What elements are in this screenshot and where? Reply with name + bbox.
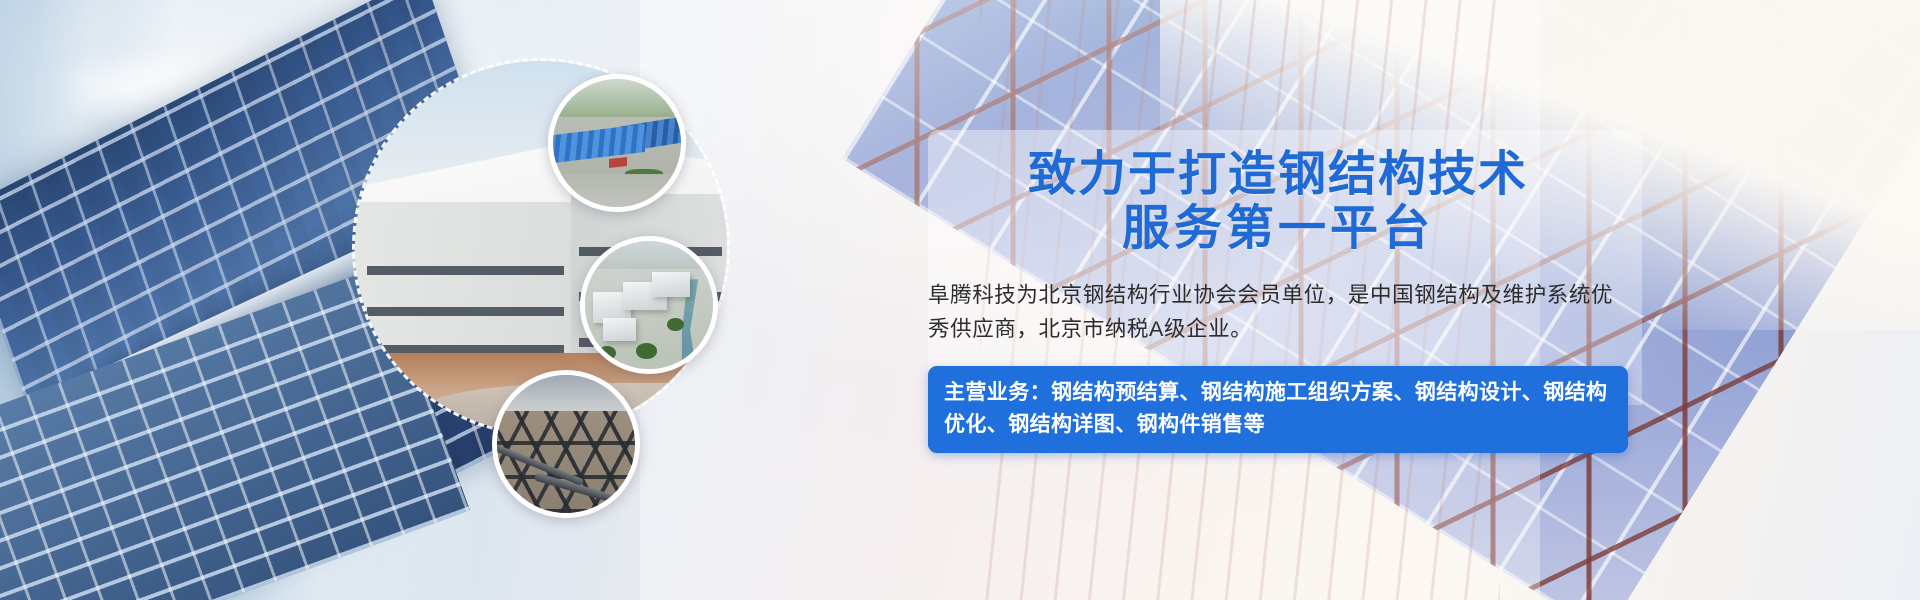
photo-collage [352,58,782,488]
circle-photo-factory-aerial [548,74,686,212]
banner-description: 阜腾科技为北京钢结构行业协会会员单位，是中国钢结构及维护系统优秀供应商，北京市纳… [928,278,1628,348]
circle-photo-office-campus-aerial [580,236,718,374]
office-block [652,272,690,298]
page-title: 致力于打造钢结构技术 服务第一平台 [928,148,1628,256]
tree [598,346,616,360]
circle-photo-steel-truss [492,370,640,518]
headline-line-2: 服务第一平台 [928,202,1628,256]
photo-sky [553,79,681,123]
hero-banner: 致力于打造钢结构技术 服务第一平台 阜腾科技为北京钢结构行业协会会员单位，是中国… [0,0,1920,600]
headline-line-1: 致力于打造钢结构技术 [1028,146,1528,202]
office-block [603,318,636,341]
window-row [367,307,564,316]
parking-lot [553,174,681,207]
main-business-badge: 主营业务：钢结构预结算、钢结构施工组织方案、钢结构设计、钢结构优化、钢结构详图、… [928,366,1628,453]
tree [636,343,656,358]
window-row [367,266,564,275]
tree [667,318,684,331]
banner-copy: 致力于打造钢结构技术 服务第一平台 阜腾科技为北京钢结构行业协会会员单位，是中国… [928,148,1628,453]
